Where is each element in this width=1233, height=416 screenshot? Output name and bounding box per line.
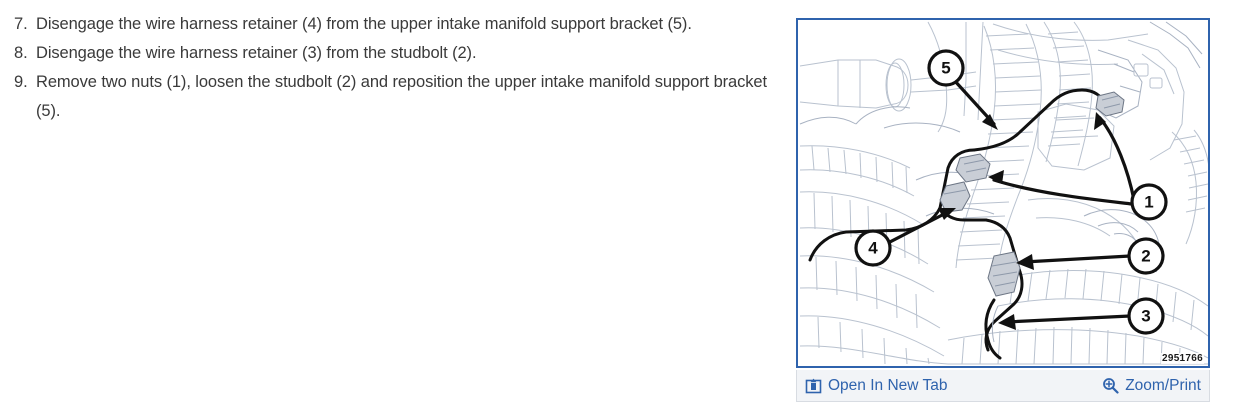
zoom-print-label: Zoom/Print xyxy=(1125,377,1201,395)
ribbed-tube-right xyxy=(1172,130,1208,244)
callout-3: 3 xyxy=(1129,299,1163,333)
callout-label: 1 xyxy=(1144,193,1153,212)
step-text: Disengage the wire harness retainer (3) … xyxy=(36,39,784,68)
magnifier-plus-icon xyxy=(1102,377,1119,394)
leader-3 xyxy=(1006,316,1130,322)
leader-1b xyxy=(994,180,1132,204)
step-text: Disengage the wire harness retainer (4) … xyxy=(36,10,784,39)
corrugated-hose-right xyxy=(1044,22,1092,166)
corrugated-hose xyxy=(956,24,1041,270)
list-item: 7. Disengage the wire harness retainer (… xyxy=(14,10,784,39)
instruction-list: 7. Disengage the wire harness retainer (… xyxy=(14,10,784,126)
support-bracket-outline xyxy=(810,90,1106,350)
callout-label: 4 xyxy=(868,239,878,258)
step-number: 9. xyxy=(14,68,36,97)
figure-image-frame[interactable]: 5 4 1 2 3 2951766 xyxy=(796,18,1210,368)
leader-1a xyxy=(1100,118,1134,200)
callout-1: 1 xyxy=(1132,185,1166,219)
open-in-new-window-icon xyxy=(805,377,822,394)
step-number: 7. xyxy=(14,10,36,39)
callout-5: 5 xyxy=(929,51,963,85)
figure-serial-number: 2951766 xyxy=(1161,353,1204,364)
technical-illustration: 5 4 1 2 3 xyxy=(798,20,1208,366)
zoom-print-button[interactable]: Zoom/Print xyxy=(1102,377,1201,395)
ribbed-band-lower-right xyxy=(998,269,1208,336)
callout-label: 2 xyxy=(1141,247,1150,266)
step-number: 8. xyxy=(14,39,36,68)
leader-2 xyxy=(1024,256,1130,262)
figure-panel: 5 4 1 2 3 2951766 xyxy=(790,12,1218,402)
callout-label: 3 xyxy=(1141,307,1150,326)
open-in-new-tab-label: Open In New Tab xyxy=(828,377,947,395)
leader-4 xyxy=(886,212,948,244)
figure-toolbar: Open In New Tab Zoom/Print xyxy=(796,370,1210,402)
list-item: 8. Disengage the wire harness retainer (… xyxy=(14,39,784,68)
callout-4: 4 xyxy=(856,231,890,265)
step-text: Remove two nuts (1), loosen the studbolt… xyxy=(36,68,784,126)
corrugated-hose-band-3 xyxy=(800,256,940,328)
callout-label: 5 xyxy=(941,59,950,78)
callout-2: 2 xyxy=(1129,239,1163,273)
arrowhead-5 xyxy=(982,114,998,130)
open-in-new-tab-button[interactable]: Open In New Tab xyxy=(805,377,947,395)
corrugated-hose-lower-left xyxy=(800,146,914,196)
list-item: 9. Remove two nuts (1), loosen the studb… xyxy=(14,68,784,126)
corrugated-hose-band-4 xyxy=(800,316,948,364)
